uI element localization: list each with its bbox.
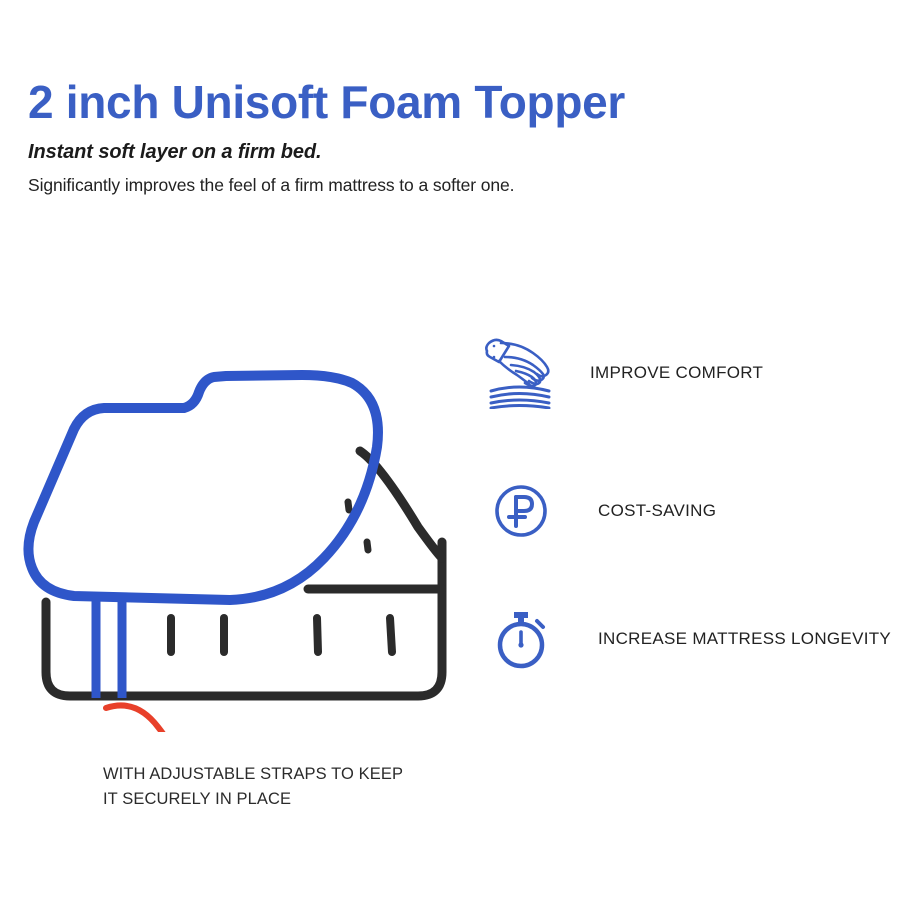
adjustable-straps <box>96 598 122 698</box>
feature-item-cost-saving: COST-SAVING <box>478 468 716 554</box>
feature-label: IMPROVE COMFORT <box>590 362 763 384</box>
straps-caption: WITH ADJUSTABLE STRAPS TO KEEP IT SECURE… <box>103 762 463 812</box>
infographic-page: 2 inch Unisoft Foam Topper Instant soft … <box>0 0 900 900</box>
caption-line-2: IT SECURELY IN PLACE <box>103 787 463 812</box>
header-block: 2 inch Unisoft Foam Topper Instant soft … <box>28 74 848 198</box>
page-subtitle: Instant soft layer on a firm bed. <box>28 138 848 166</box>
mattress-base-outline <box>46 451 442 696</box>
feature-label: COST-SAVING <box>598 500 716 522</box>
strap-pointer-arrow <box>106 705 188 732</box>
feature-item-improve-comfort: IMPROVE COMFORT <box>478 330 763 416</box>
feature-label: INCREASE MATTRESS LONGEVITY <box>598 628 891 650</box>
stopwatch-icon <box>478 596 564 682</box>
mattress-illustration <box>18 352 468 732</box>
foam-topper-outline <box>28 375 378 600</box>
page-title: 2 inch Unisoft Foam Topper <box>28 74 848 130</box>
caption-line-1: WITH ADJUSTABLE STRAPS TO KEEP <box>103 762 463 787</box>
mattress-side-ticks <box>171 618 392 652</box>
hand-on-layers-icon <box>478 330 564 416</box>
feature-item-longevity: INCREASE MATTRESS LONGEVITY <box>478 596 891 682</box>
page-description: Significantly improves the feel of a fir… <box>28 172 848 198</box>
ruble-coin-icon <box>478 468 564 554</box>
